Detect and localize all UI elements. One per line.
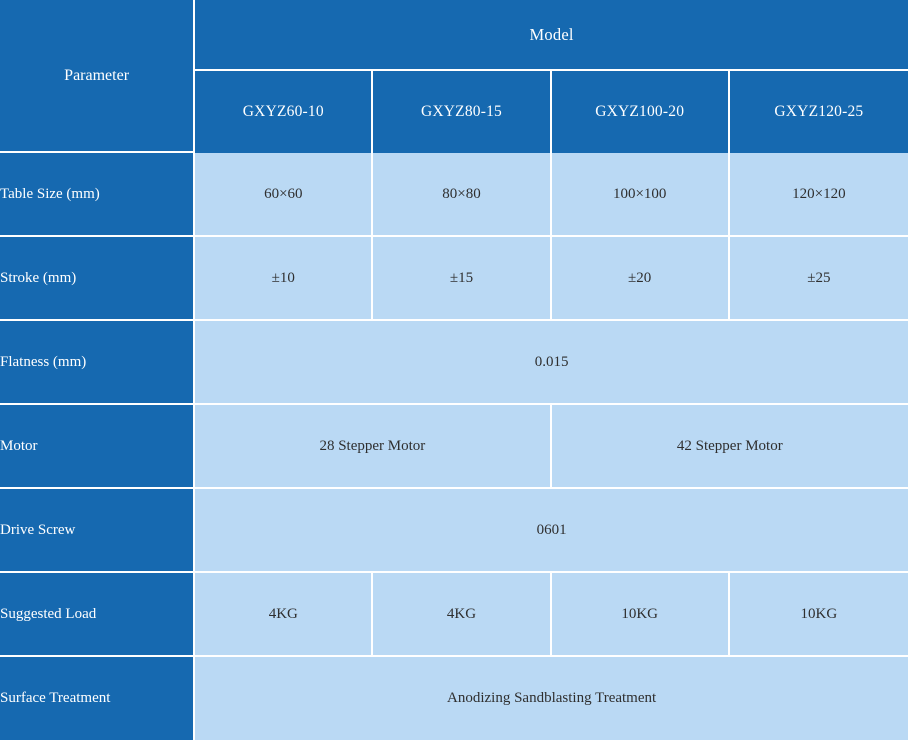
cell-table-size-1: 60×60 xyxy=(195,153,373,237)
model-group-header: Model xyxy=(195,0,908,71)
cell-stroke-3: ±20 xyxy=(552,237,730,321)
table-body: Table Size (mm) 60×60 80×80 100×100 120×… xyxy=(0,153,908,740)
cell-surface-treatment-all: Anodizing Sandblasting Treatment xyxy=(195,657,908,740)
row-label-drive-screw: Drive Screw xyxy=(0,489,195,573)
table-row: Table Size (mm) 60×60 80×80 100×100 120×… xyxy=(0,153,908,237)
cell-flatness-all: 0.015 xyxy=(195,321,908,405)
row-label-table-size: Table Size (mm) xyxy=(0,153,195,237)
header-row-model: Parameter Model xyxy=(0,0,908,71)
table-row: Suggested Load 4KG 4KG 10KG 10KG xyxy=(0,573,908,657)
cell-stroke-4: ±25 xyxy=(730,237,908,321)
row-label-flatness: Flatness (mm) xyxy=(0,321,195,405)
cell-drive-screw-all: 0601 xyxy=(195,489,908,573)
table-row: Stroke (mm) ±10 ±15 ±20 ±25 xyxy=(0,237,908,321)
row-label-surface-treatment: Surface Treatment xyxy=(0,657,195,740)
cell-stroke-1: ±10 xyxy=(195,237,373,321)
cell-motor-small: 28 Stepper Motor xyxy=(195,405,551,489)
cell-table-size-3: 100×100 xyxy=(552,153,730,237)
cell-suggested-load-4: 10KG xyxy=(730,573,908,657)
cell-motor-large: 42 Stepper Motor xyxy=(552,405,908,489)
model-header-1: GXYZ60-10 xyxy=(195,71,373,153)
parameter-column-header: Parameter xyxy=(0,0,195,153)
cell-table-size-4: 120×120 xyxy=(730,153,908,237)
row-label-stroke: Stroke (mm) xyxy=(0,237,195,321)
table-row: Drive Screw 0601 xyxy=(0,489,908,573)
model-header-3: GXYZ100-20 xyxy=(552,71,730,153)
table-row: Flatness (mm) 0.015 xyxy=(0,321,908,405)
table-header: Parameter Model GXYZ60-10 GXYZ80-15 GXYZ… xyxy=(0,0,908,153)
table-row: Surface Treatment Anodizing Sandblasting… xyxy=(0,657,908,740)
cell-suggested-load-2: 4KG xyxy=(373,573,551,657)
cell-suggested-load-3: 10KG xyxy=(552,573,730,657)
row-label-suggested-load: Suggested Load xyxy=(0,573,195,657)
row-label-motor: Motor xyxy=(0,405,195,489)
model-header-4: GXYZ120-25 xyxy=(730,71,908,153)
cell-stroke-2: ±15 xyxy=(373,237,551,321)
model-header-2: GXYZ80-15 xyxy=(373,71,551,153)
cell-suggested-load-1: 4KG xyxy=(195,573,373,657)
specification-table: Parameter Model GXYZ60-10 GXYZ80-15 GXYZ… xyxy=(0,0,908,740)
cell-table-size-2: 80×80 xyxy=(373,153,551,237)
table-row: Motor 28 Stepper Motor 42 Stepper Motor xyxy=(0,405,908,489)
